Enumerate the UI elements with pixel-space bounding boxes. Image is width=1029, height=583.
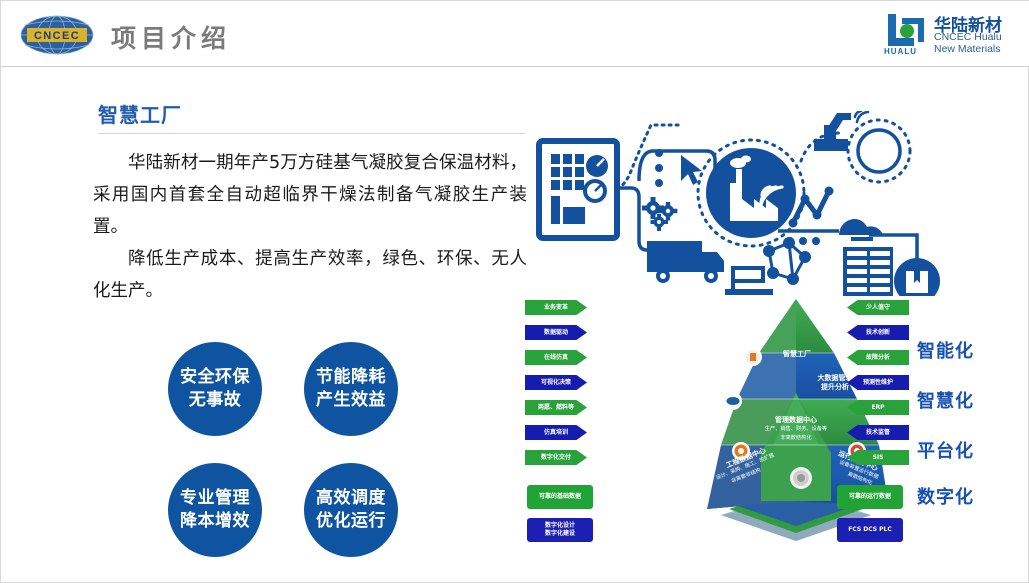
left-tag-7: 数字化交付 (525, 450, 587, 465)
benefit-circle-1: 安全环保 无事故 (168, 342, 262, 436)
truck-icon (647, 241, 724, 283)
right-tag-4: 预测性维护 (847, 375, 909, 390)
right-tag-1: 少人值守 (847, 300, 909, 315)
left-tag-5: 两愿、燃料等 (525, 400, 587, 415)
hualu-mark-caption: HUALU (884, 47, 917, 56)
benefit-circle-1-line2: 无事故 (189, 389, 242, 412)
benefit-circle-4-line1: 高效调度 (316, 487, 386, 510)
smart-factory-illustration (521, 111, 1021, 296)
paragraph-2: 降低生产成本、提高生产效率，绿色、环保、无人化生产。 (93, 243, 527, 307)
slide-header: CNCEC 项目介绍 HUALU 华陆新材 CNCEC Hualu New Ma… (1, 1, 1029, 67)
pyramid-diagram: 智慧工厂 大数据管理 提升分析 管理数据中心 生产、销售、财务、设备等 非离散结… (521, 293, 1026, 543)
big-label-zhihuihua: 智慧化 (917, 387, 974, 413)
benefit-circle-2: 节能降耗 产生效益 (304, 342, 398, 436)
section-title: 智慧工厂 (98, 99, 182, 128)
cncec-logo: CNCEC (19, 15, 95, 55)
benefit-circle-2-line2: 产生效益 (316, 389, 386, 412)
svg-text:CNCEC: CNCEC (34, 30, 80, 42)
benefit-circle-3-line1: 专业管理 (180, 487, 250, 510)
benefit-circle-1-line1: 安全环保 (180, 366, 250, 389)
big-label-shuzihua: 数字化 (917, 483, 974, 509)
bottom-right-box-1: 可靠的运行数据 (837, 485, 903, 509)
left-tag-1: 业务变革 (525, 300, 587, 315)
section-divider (98, 133, 525, 134)
benefit-circle-3-line2: 降本增效 (180, 510, 250, 533)
gears-icon (642, 197, 677, 231)
cloud-icon (839, 219, 883, 241)
body-text: 华陆新材一期年产5万方硅基气凝胶复合保温材料，采用国内首套全自动超临界干燥法制备… (93, 147, 527, 307)
left-tag-3: 在线仿真 (525, 350, 587, 365)
benefit-circle-3: 专业管理 降本增效 (168, 463, 262, 557)
workstation-icon (725, 266, 773, 295)
hualu-logo: HUALU 华陆新材 CNCEC Hualu New Materials (884, 11, 1016, 57)
right-tag-6: 技术监督 (847, 425, 909, 440)
benefit-circle-4: 高效调度 优化运行 (304, 463, 398, 557)
benefit-circle-4-line2: 优化运行 (316, 510, 386, 533)
right-tag-3: 故障分析 (847, 350, 909, 365)
server-rack-icon (843, 247, 893, 296)
bottom-left-box-1: 可靠的基础数据 (527, 485, 593, 509)
big-label-pingtaihua: 平台化 (917, 437, 974, 463)
hualu-en-line2: New Materials (934, 43, 1001, 55)
left-tag-2: 数据驱动 (525, 325, 587, 340)
hualu-en-line1: CNCEC Hualu (934, 31, 1002, 43)
left-tag-4: 可视化决策 (525, 375, 587, 390)
left-tag-6: 仿真培训 (525, 425, 587, 440)
slide-root: CNCEC 项目介绍 HUALU 华陆新材 CNCEC Hualu New Ma… (0, 0, 1029, 583)
hualu-mark-icon (884, 12, 928, 48)
bottom-right-box-2: FCS DCS PLC (837, 518, 903, 542)
big-label-zhinenghua: 智能化 (917, 337, 974, 363)
dashboard-icon (539, 141, 617, 238)
right-tag-5: ERP (847, 400, 909, 415)
right-tag-2: 技术创新 (847, 325, 909, 340)
page-title: 项目介绍 (111, 19, 231, 55)
right-tag-7: SIS (847, 450, 909, 465)
bottom-left-box-2: 数字化设计 数字化建设 (527, 518, 593, 542)
paragraph-1: 华陆新材一期年产5万方硅基气凝胶复合保温材料，采用国内首套全自动超临界干燥法制备… (93, 147, 527, 243)
benefit-circle-2-line1: 节能降耗 (316, 366, 386, 389)
package-circle-icon (894, 258, 940, 296)
